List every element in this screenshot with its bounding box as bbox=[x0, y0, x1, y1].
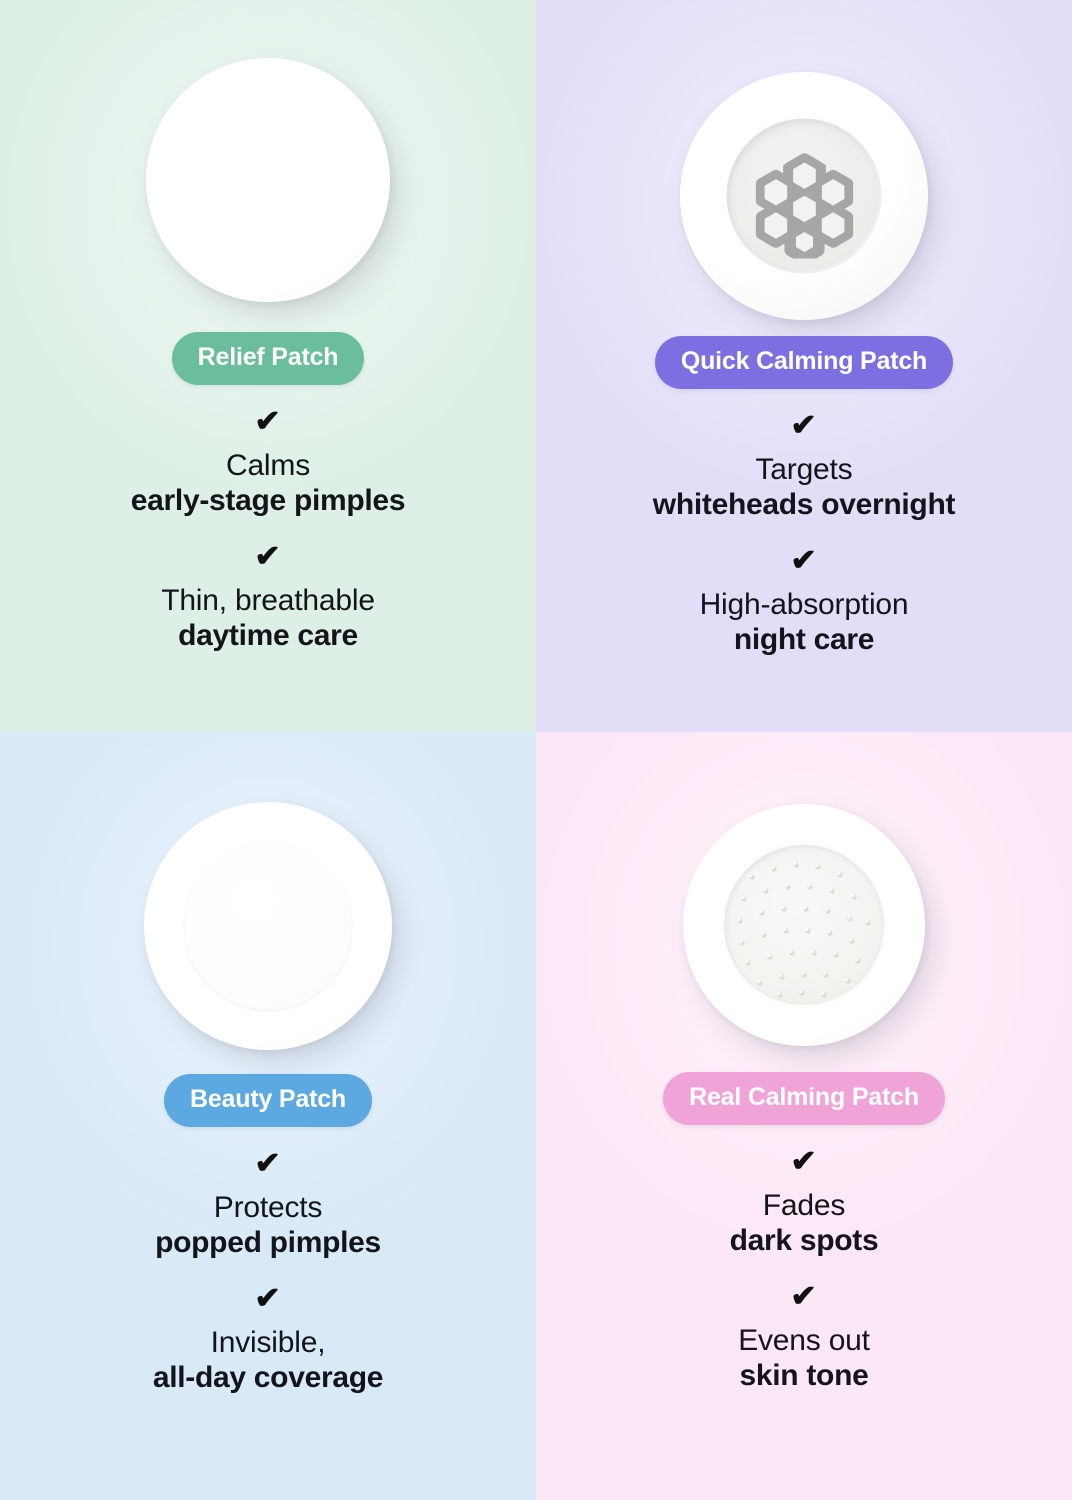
check-icon: ✔ bbox=[255, 1149, 281, 1179]
honeycomb-icon bbox=[742, 134, 866, 258]
feature-line-emphasis: dark spots bbox=[730, 1223, 879, 1258]
badge-beauty-patch[interactable]: Beauty Patch bbox=[164, 1074, 372, 1127]
feature-line-emphasis: whiteheads overnight bbox=[653, 487, 955, 522]
feature-line-primary: Thin, breathable bbox=[161, 583, 375, 618]
badge-real-calming-patch[interactable]: Real Calming Patch bbox=[663, 1072, 945, 1125]
feature-line-emphasis: early-stage pimples bbox=[131, 483, 405, 518]
feature-line-primary: High-absorption bbox=[700, 587, 909, 622]
feature-item: ✔ Calms early-stage pimples bbox=[0, 407, 536, 519]
check-icon: ✔ bbox=[791, 1147, 817, 1177]
microdart-pattern-icon bbox=[724, 845, 884, 1005]
feature-line-emphasis: night care bbox=[734, 622, 874, 657]
feature-line-primary: Evens out bbox=[738, 1323, 870, 1358]
feature-list-quick-calming-patch: ✔ Targets whiteheads overnight ✔ High-ab… bbox=[536, 411, 1072, 658]
feature-item: ✔ Fades dark spots bbox=[536, 1147, 1072, 1259]
feature-item: ✔ Protects popped pimples bbox=[0, 1149, 536, 1261]
feature-line-emphasis: all-day coverage bbox=[153, 1360, 383, 1395]
feature-item: ✔ Invisible, all-day coverage bbox=[0, 1284, 536, 1396]
card-real-calming-patch: Real Calming Patch ✔ Fades dark spots ✔ … bbox=[536, 732, 1072, 1500]
feature-line-emphasis: popped pimples bbox=[155, 1225, 381, 1260]
card-relief-patch: Relief Patch ✔ Calms early-stage pimples… bbox=[0, 0, 536, 732]
product-image-real-calming-patch bbox=[683, 804, 925, 1046]
patch-microdart-plate bbox=[724, 845, 884, 1005]
patch-disc bbox=[144, 802, 392, 1050]
feature-item: ✔ Evens out skin tone bbox=[536, 1282, 1072, 1394]
patch-inner-ring bbox=[185, 843, 352, 1010]
card-quick-calming-patch: Quick Calming Patch ✔ Targets whiteheads… bbox=[536, 0, 1072, 732]
feature-line-primary: Targets bbox=[756, 452, 853, 487]
badge-relief-patch[interactable]: Relief Patch bbox=[172, 332, 365, 385]
check-icon: ✔ bbox=[255, 407, 281, 437]
patch-comparison-grid: Relief Patch ✔ Calms early-stage pimples… bbox=[0, 0, 1072, 1500]
feature-line-primary: Invisible, bbox=[211, 1325, 326, 1360]
product-image-relief-patch bbox=[146, 58, 390, 302]
patch-inner-plate bbox=[727, 119, 882, 274]
feature-list-beauty-patch: ✔ Protects popped pimples ✔ Invisible, a… bbox=[0, 1149, 536, 1396]
feature-item: ✔ High-absorption night care bbox=[536, 546, 1072, 658]
check-icon: ✔ bbox=[255, 1284, 281, 1314]
check-icon: ✔ bbox=[255, 542, 281, 572]
feature-list-real-calming-patch: ✔ Fades dark spots ✔ Evens out skin tone bbox=[536, 1147, 1072, 1394]
feature-item: ✔ Thin, breathable daytime care bbox=[0, 542, 536, 654]
check-icon: ✔ bbox=[791, 411, 817, 441]
feature-line-primary: Calms bbox=[226, 448, 310, 483]
check-icon: ✔ bbox=[791, 1282, 817, 1312]
badge-quick-calming-patch[interactable]: Quick Calming Patch bbox=[655, 336, 953, 389]
feature-line-primary: Fades bbox=[763, 1188, 845, 1223]
card-beauty-patch: Beauty Patch ✔ Protects popped pimples ✔… bbox=[0, 732, 536, 1500]
feature-item: ✔ Targets whiteheads overnight bbox=[536, 411, 1072, 523]
feature-list-relief-patch: ✔ Calms early-stage pimples ✔ Thin, brea… bbox=[0, 407, 536, 654]
patch-disc bbox=[680, 72, 928, 320]
feature-line-emphasis: skin tone bbox=[740, 1358, 869, 1393]
feature-line-primary: Protects bbox=[214, 1190, 322, 1225]
product-image-beauty-patch bbox=[144, 802, 392, 1050]
feature-line-emphasis: daytime care bbox=[178, 618, 358, 653]
patch-disc bbox=[146, 58, 390, 302]
patch-disc bbox=[683, 804, 925, 1046]
check-icon: ✔ bbox=[791, 546, 817, 576]
product-image-quick-calming-patch bbox=[680, 72, 928, 320]
